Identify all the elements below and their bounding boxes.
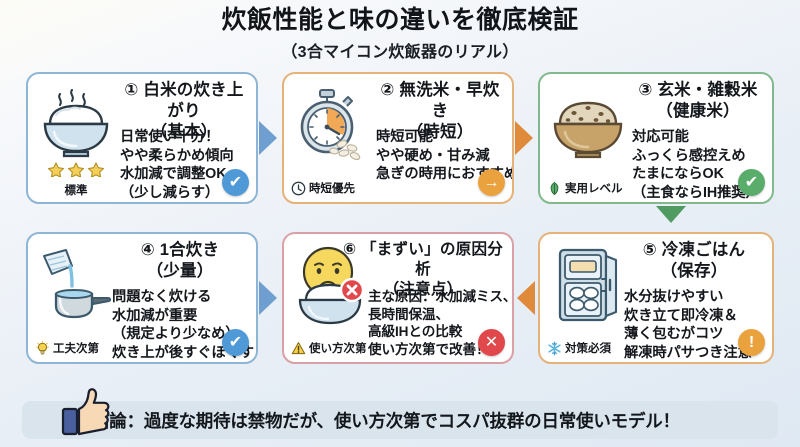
card-1-status-check-icon[interactable]: ✔ (222, 169, 249, 196)
card-1-white-rice[interactable]: 標準 ① 白米の炊き上がり （基本） 日常使い十分！ やや柔らかめ傾向 水加減で… (26, 72, 258, 204)
card-1-title: 白米の炊き上がり (143, 81, 243, 120)
card-4-badge-label: 工夫次第 (53, 340, 99, 356)
arrow-card2-to-card3-icon (515, 121, 533, 155)
card-2-line-1: 時短可能 (376, 128, 506, 147)
stopwatch-rice-icon (290, 82, 374, 168)
card-5-line-1: 水分抜けやすい (624, 288, 766, 307)
card-5-title: 冷凍ごはん (662, 241, 746, 259)
card-2-nowash-quick[interactable]: 時短優先 ② 無洗米・早炊き （時短） 時短可能 やや硬め・甘み減 急ぎの時用に… (282, 72, 514, 204)
card-6-badge: 使い方次第 (291, 340, 367, 356)
three-stars-icon (40, 161, 112, 181)
card-1-line-2: やや柔らかめ傾向 (120, 147, 250, 166)
card-4-line-2: 水加減が重要 (112, 307, 250, 326)
card-4-line-1: 問題なく炊ける (112, 288, 250, 307)
card-4-status-check-icon[interactable]: ✔ (222, 329, 249, 356)
card-5-heading: ⑤ 冷凍ごはん （保存） (624, 240, 764, 282)
clock-icon (291, 181, 306, 196)
rating-label: 標準 (40, 182, 112, 198)
card-3-status-check-icon[interactable]: ✔ (738, 169, 765, 196)
page-subtitle: （3合マイコン炊飯器のリアル） (0, 38, 800, 62)
card-5-badge-label: 対策必須 (565, 340, 611, 356)
page-header: 炊飯性能と味の違いを徹底検証 （3合マイコン炊飯器のリアル） (0, 6, 800, 62)
page-title: 炊飯性能と味の違いを徹底検証 (0, 6, 800, 35)
card-5-line-2: 炊き立て即冷凍＆ (624, 307, 766, 326)
card-6-line-1: 主な原因：水加減ミス、 (368, 288, 506, 306)
card-3-badge-label: 実用レベル (565, 180, 623, 196)
card-2-status-arrow-icon[interactable]: → (478, 169, 505, 196)
card-3-brown-rice[interactable]: 実用レベル ③ 玄米・雑穀米 （健康米） 対応可能 ふっくら感控えめ たまになら… (538, 72, 774, 204)
infographic-canvas: 炊飯性能と味の違いを徹底検証 （3合マイコン炊飯器のリアル） (0, 0, 800, 447)
card-4-heading: ④ 1合炊き （少量） (112, 240, 248, 282)
card-5-status-exclamation-icon[interactable]: ! (738, 329, 765, 356)
warning-triangle-icon (291, 341, 306, 356)
card-5-badge: 対策必須 (547, 340, 611, 356)
card-6-title: 「まずい」の原因分析 (361, 241, 503, 278)
snowflake-icon (547, 341, 562, 356)
card-2-number: ② (380, 81, 394, 99)
card-2-title: 無洗米・早炊き (399, 81, 499, 120)
card-4-title: 1合炊き (160, 241, 219, 259)
card-3-number: ③ (638, 81, 652, 99)
card-2-line-2: やや硬め・甘み減 (376, 147, 506, 166)
card-2-badge: 時短優先 (291, 180, 355, 196)
card-5-number: ⑤ (643, 241, 657, 259)
rice-bowl-white-icon (34, 82, 118, 168)
card-3-subtitle: （健康米） (632, 101, 764, 122)
card-3-line-1: 対応可能 (632, 128, 766, 147)
card-3-title: 玄米・雑穀米 (657, 81, 757, 99)
card-6-bad-taste-causes[interactable]: 使い方次第 ⑥ 「まずい」の原因分析 （注意点） 主な原因：水加減ミス、 長時間… (282, 232, 514, 364)
thumbs-up-icon (60, 385, 116, 441)
freezer-icon (546, 242, 630, 328)
lightbulb-icon (35, 341, 50, 356)
card-3-line-2: ふっくら感控えめ (632, 147, 766, 166)
card-5-frozen-rice[interactable]: 対策必須 ⑤ 冷凍ごはん （保存） 水分抜けやすい 炊き立て即冷凍＆ 薄く包むが… (538, 232, 774, 364)
card-1-line-1: 日常使い十分！ (120, 128, 250, 147)
card-3-badge: 実用レベル (547, 180, 623, 196)
rice-bowl-brown-icon (546, 82, 630, 168)
card-6-line-2: 長時間保温、 (368, 306, 506, 324)
card-6-status-cross-icon[interactable]: ✕ (478, 329, 505, 356)
card-4-number: ④ (141, 241, 155, 259)
card-4-badge: 工夫次第 (35, 340, 99, 356)
card-6-badge-label: 使い方次第 (309, 340, 367, 356)
conclusion-text: 結論：過度な期待は禁物だが、使い方次第でコスパ抜群の日常使いモデル！ (92, 408, 680, 433)
conclusion-banner: 結論：過度な期待は禁物だが、使い方次第でコスパ抜群の日常使いモデル！ (22, 401, 778, 439)
pouring-water-pot-icon (34, 242, 118, 328)
arrow-card4-to-card6-icon (259, 281, 277, 315)
arrow-card3-to-card5-icon (656, 206, 686, 223)
card-3-heading: ③ 玄米・雑穀米 （健康米） (632, 80, 764, 122)
leaf-icon (547, 181, 562, 196)
arrow-card5-to-card6-icon (517, 281, 535, 315)
card-2-badge-label: 時短優先 (309, 180, 355, 196)
card-6-number: ⑥ (343, 241, 356, 258)
card-1-number: ① (124, 81, 138, 99)
card-5-subtitle: （保存） (624, 261, 764, 282)
arrow-card1-to-card2-icon (259, 121, 277, 155)
card-4-single-cup[interactable]: 工夫次第 ④ 1合炊き （少量） 問題なく炊ける 水加減が重要 （規定より少なめ… (26, 232, 258, 364)
card-4-subtitle: （少量） (112, 261, 248, 282)
rating-badge: 標準 (40, 161, 112, 198)
